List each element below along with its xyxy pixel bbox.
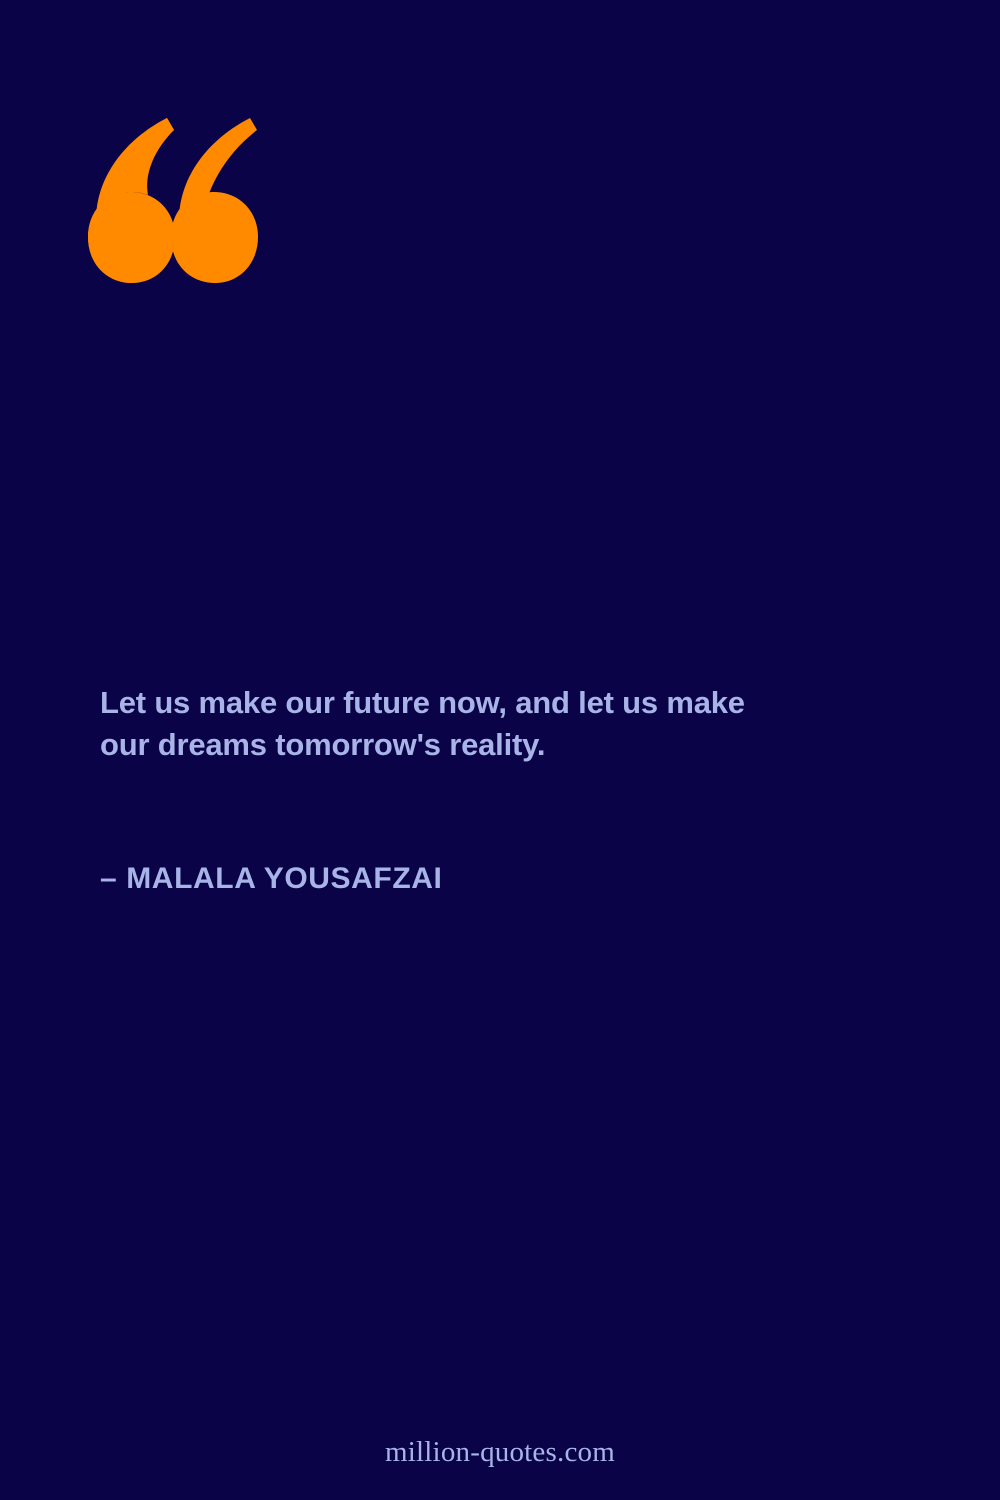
quote-text: Let us make our future now, and let us m… — [100, 682, 840, 766]
attribution-text: – MALALA YOUSAFZAI — [100, 862, 840, 896]
quote-card: Let us make our future now, and let us m… — [0, 0, 1000, 1500]
quote-body: Let us make our future now, and let us m… — [100, 682, 840, 766]
footer: million-quotes.com — [0, 1436, 1000, 1469]
double-quote-open-icon — [88, 118, 258, 283]
site-watermark: million-quotes.com — [385, 1436, 615, 1469]
attribution: – MALALA YOUSAFZAI — [100, 862, 840, 896]
